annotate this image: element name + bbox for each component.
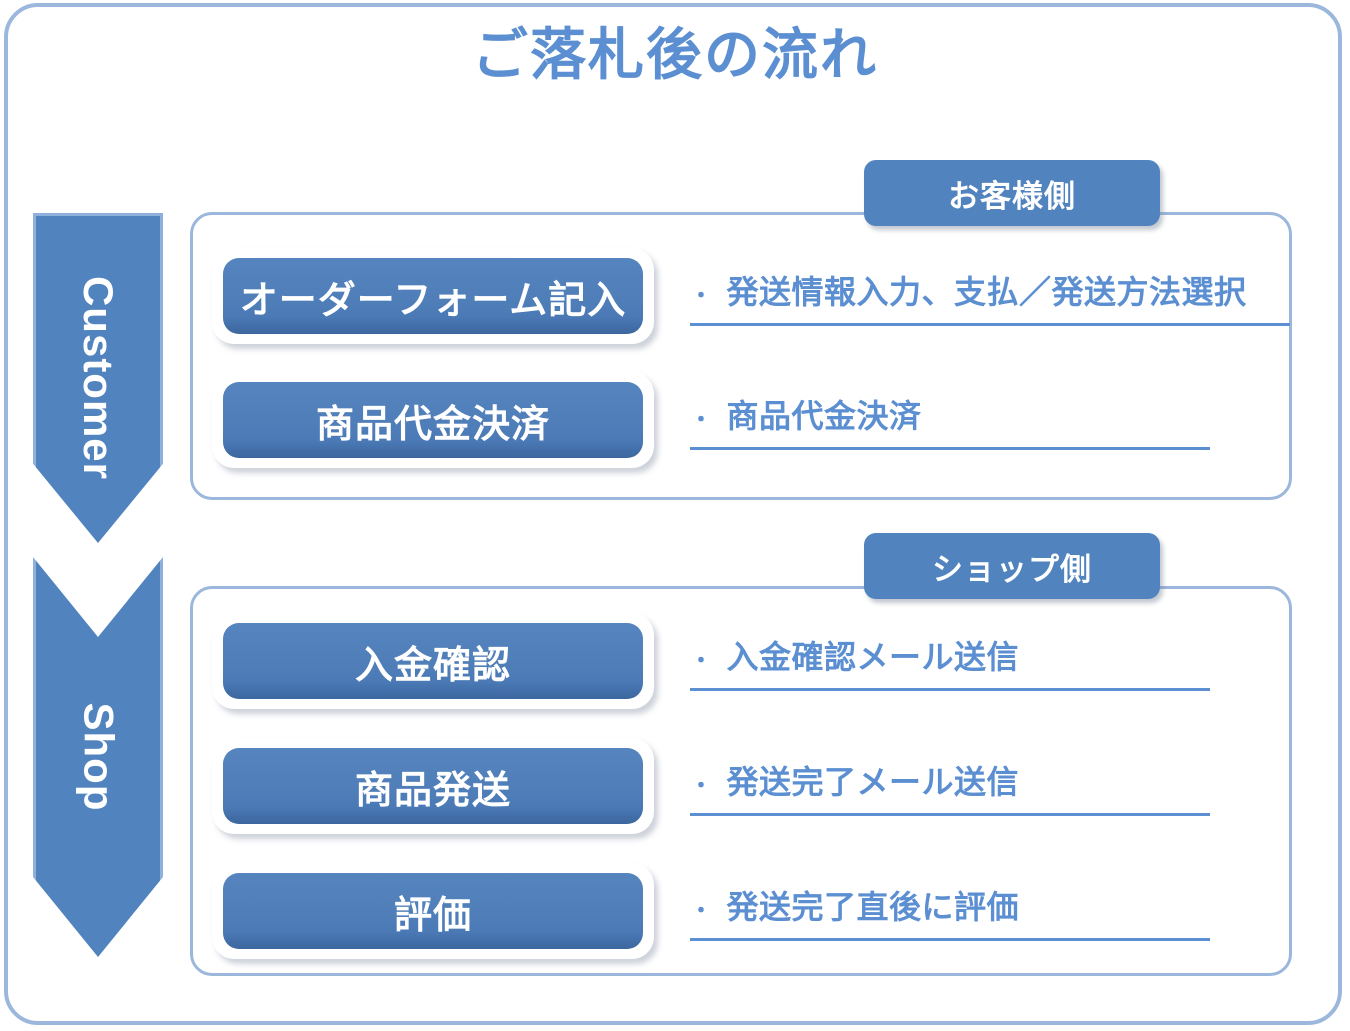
flow-diagram: ご落札後の流れ Customer Shop お客様側 オーダーフォーム記入 ・ … xyxy=(0,0,1350,1031)
step-desc-review: ・ 発送完了直後に評価 xyxy=(690,882,1210,941)
step-desc-payment-confirm: ・ 入金確認メール送信 xyxy=(690,632,1210,691)
flow-arrow-shop-label-wrap: Shop xyxy=(33,557,163,957)
step-desc-order-form-line: ・ 発送情報入力、支払／発送方法選択 xyxy=(690,267,1290,313)
step-desc-review-rule xyxy=(690,938,1210,941)
step-desc-payment: ・ 商品代金決済 xyxy=(690,391,1210,450)
step-desc-order-form-text: 発送情報入力、支払／発送方法選択 xyxy=(727,267,1247,313)
bullet-icon: ・ xyxy=(690,643,713,675)
step-row-payment: 商品代金決済 ・ 商品代金決済 xyxy=(212,372,1210,468)
step-box-review[interactable]: 評価 xyxy=(212,863,654,959)
step-desc-payment-rule xyxy=(690,447,1210,450)
flow-arrow-customer-label: Customer xyxy=(74,276,122,480)
step-box-shipping-label: 商品発送 xyxy=(223,748,643,824)
flow-arrow-shop: Shop xyxy=(33,557,163,957)
step-desc-shipping-text: 発送完了メール送信 xyxy=(727,757,1020,803)
step-desc-payment-confirm-text: 入金確認メール送信 xyxy=(727,632,1020,678)
step-box-review-label: 評価 xyxy=(223,873,643,949)
step-box-order-form-label: オーダーフォーム記入 xyxy=(223,258,643,334)
step-desc-payment-confirm-rule xyxy=(690,688,1210,691)
flow-arrow-shop-label: Shop xyxy=(74,703,122,812)
page-title: ご落札後の流れ xyxy=(0,24,1350,86)
step-row-order-form: オーダーフォーム記入 ・ 発送情報入力、支払／発送方法選択 xyxy=(212,248,1290,344)
badge-customer-side: お客様側 xyxy=(864,160,1160,226)
step-desc-order-form: ・ 発送情報入力、支払／発送方法選択 xyxy=(690,267,1290,326)
step-desc-review-text: 発送完了直後に評価 xyxy=(727,882,1020,928)
badge-shop-side: ショップ側 xyxy=(864,533,1160,599)
step-row-payment-confirm: 入金確認 ・ 入金確認メール送信 xyxy=(212,613,1210,709)
bullet-icon: ・ xyxy=(690,768,713,800)
step-box-payment-label: 商品代金決済 xyxy=(223,382,643,458)
bullet-icon: ・ xyxy=(690,402,713,434)
step-box-payment-confirm[interactable]: 入金確認 xyxy=(212,613,654,709)
step-desc-payment-line: ・ 商品代金決済 xyxy=(690,391,1210,437)
step-desc-review-line: ・ 発送完了直後に評価 xyxy=(690,882,1210,928)
bullet-icon: ・ xyxy=(690,893,713,925)
step-box-payment-confirm-label: 入金確認 xyxy=(223,623,643,699)
step-desc-shipping-rule xyxy=(690,813,1210,816)
step-box-shipping[interactable]: 商品発送 xyxy=(212,738,654,834)
step-desc-payment-text: 商品代金決済 xyxy=(727,391,922,437)
step-desc-payment-confirm-line: ・ 入金確認メール送信 xyxy=(690,632,1210,678)
step-box-order-form[interactable]: オーダーフォーム記入 xyxy=(212,248,654,344)
flow-arrow-customer-label-wrap: Customer xyxy=(33,213,163,543)
step-row-shipping: 商品発送 ・ 発送完了メール送信 xyxy=(212,738,1210,834)
step-desc-shipping: ・ 発送完了メール送信 xyxy=(690,757,1210,816)
step-desc-shipping-line: ・ 発送完了メール送信 xyxy=(690,757,1210,803)
bullet-icon: ・ xyxy=(690,278,713,310)
step-box-payment[interactable]: 商品代金決済 xyxy=(212,372,654,468)
flow-arrow-customer: Customer xyxy=(33,213,163,543)
step-row-review: 評価 ・ 発送完了直後に評価 xyxy=(212,863,1210,959)
step-desc-order-form-rule xyxy=(690,323,1290,326)
